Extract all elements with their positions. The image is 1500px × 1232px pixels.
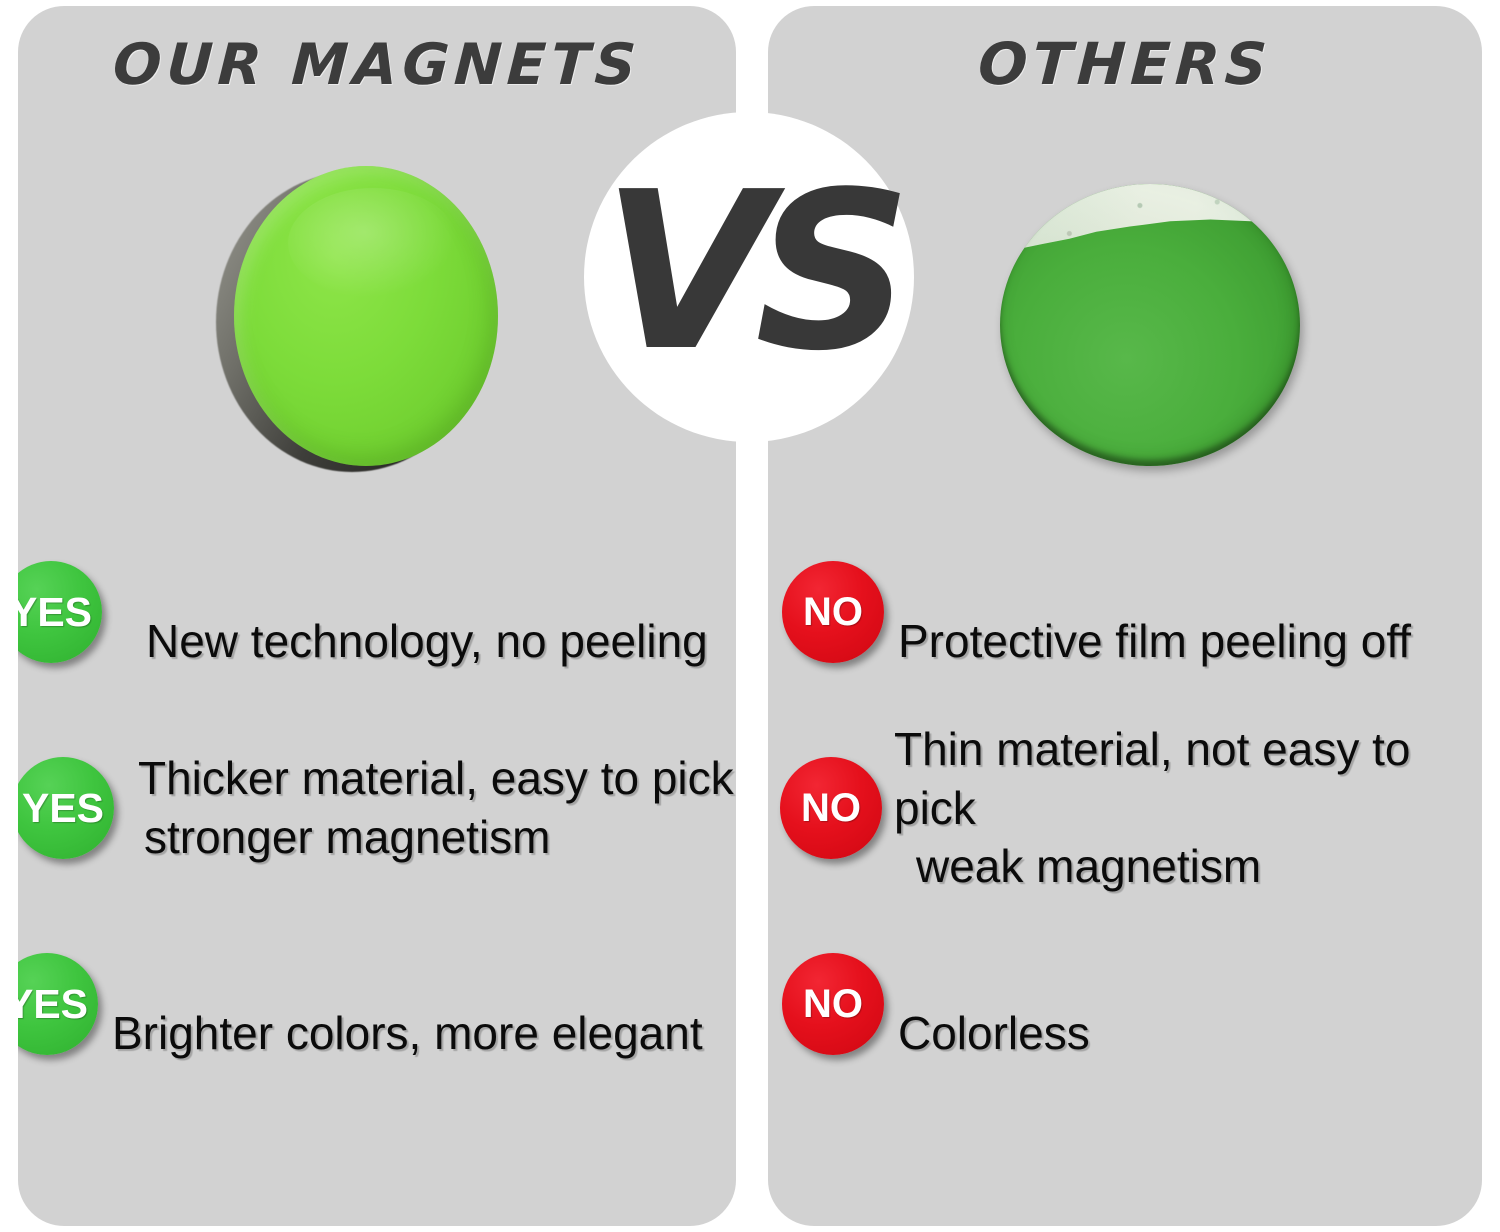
- feature-line: Brighter colors, more elegant: [112, 1007, 703, 1059]
- badge-label: NO: [803, 982, 863, 1027]
- list-item: NO Colorless: [768, 906, 1482, 1102]
- yes-circle-icon: YES: [18, 561, 102, 663]
- badge-label: NO: [803, 590, 863, 635]
- feature-line: Colorless: [898, 1007, 1090, 1059]
- feature-line: New technology, no peeling: [146, 615, 708, 667]
- right-feature-list: NO Protective film peeling off NO Thin m…: [768, 514, 1482, 1102]
- feature-text: Colorless: [898, 945, 1090, 1063]
- vs-label: VS: [584, 108, 914, 438]
- feature-text: New technology, no peeling: [146, 553, 708, 671]
- feature-line: Thicker material, easy to pick: [138, 752, 734, 804]
- magnet-gloss-highlight: [288, 188, 458, 298]
- vs-badge: VS: [566, 112, 934, 452]
- magnet-green-face: [234, 166, 498, 466]
- list-item: YES New technology, no peeling: [18, 514, 736, 710]
- list-item: NO Thin material, not easy to pick weak …: [768, 710, 1482, 906]
- list-item: YES Thicker material, easy to pick stron…: [18, 710, 736, 906]
- yes-circle-icon: YES: [18, 953, 98, 1055]
- yes-circle-icon: YES: [18, 757, 114, 859]
- list-item: YES Brighter colors, more elegant: [18, 906, 736, 1102]
- badge-label: YES: [22, 785, 104, 832]
- green-magnet-disc-icon: [216, 166, 498, 476]
- vs-circle-icon: VS: [584, 112, 914, 442]
- feature-line: Thin material, not easy to pick: [894, 723, 1410, 834]
- badge-label: NO: [801, 786, 861, 831]
- feature-line: stronger magnetism: [138, 808, 734, 867]
- left-feature-list: YES New technology, no peeling YES Thick…: [18, 514, 736, 1102]
- feature-text: Thicker material, easy to pick stronger …: [138, 690, 734, 926]
- left-panel-title: OUR MAGNETS: [18, 32, 736, 98]
- no-circle-icon: NO: [782, 953, 884, 1055]
- badge-label: YES: [18, 981, 88, 1028]
- no-circle-icon: NO: [782, 561, 884, 663]
- magnet-green-face: [1000, 184, 1300, 466]
- feature-text: Protective film peeling off: [898, 553, 1411, 671]
- feature-line: Protective film peeling off: [898, 615, 1411, 667]
- comparison-infographic: OUR MAGNETS YES New technology, no peeli…: [0, 0, 1500, 1232]
- peeling-magnet-disc-icon: [1000, 184, 1300, 466]
- magnet-edge-shadow: [1000, 184, 1300, 466]
- feature-text: Brighter colors, more elegant: [112, 945, 703, 1063]
- no-circle-icon: NO: [780, 757, 882, 859]
- badge-label: YES: [18, 589, 92, 636]
- right-panel-title: OTHERS: [768, 30, 1482, 98]
- feature-line: weak magnetism: [894, 837, 1482, 896]
